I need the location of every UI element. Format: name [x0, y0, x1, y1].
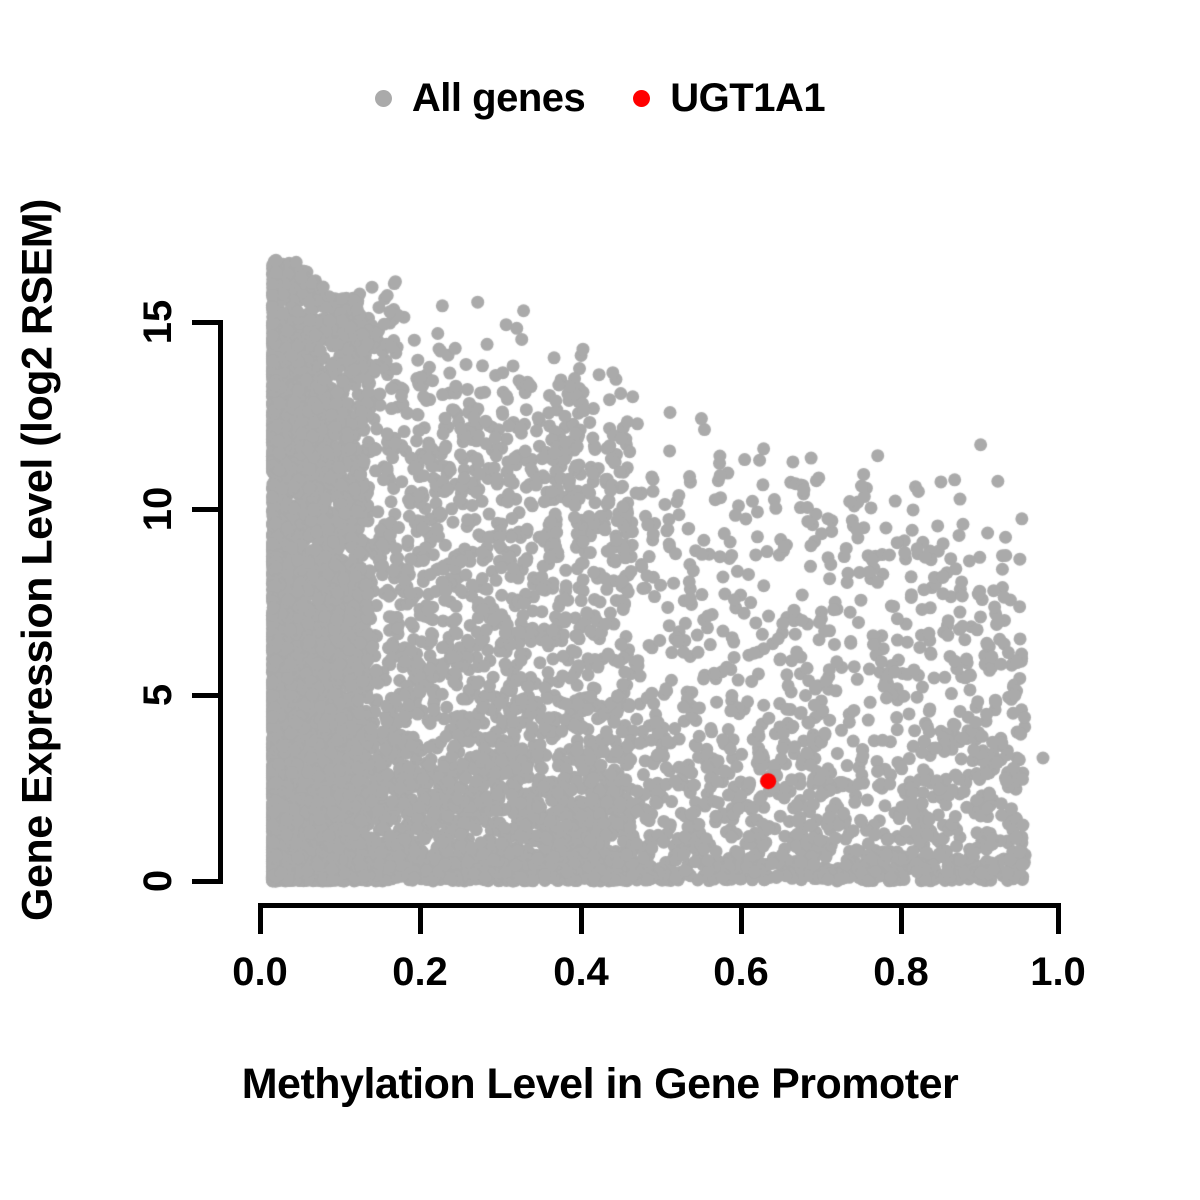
y-axis-title: Gene Expression Level (log2 RSEM) [14, 199, 63, 921]
y-axis-title-wrap: Gene Expression Level (log2 RSEM) [10, 140, 66, 980]
x-tick-mark-0 [258, 903, 263, 934]
y-tick-mark-15 [192, 320, 223, 325]
x-tick-label-4: 0.8 [873, 952, 929, 992]
y-tick-label-5: 5 [138, 684, 178, 706]
y-tick-label-10: 10 [138, 487, 178, 532]
y-tick-label-0: 0 [138, 870, 178, 892]
x-tick-mark-2 [579, 903, 584, 934]
x-tick-label-2: 0.4 [553, 952, 609, 992]
scatter-plot-figure: All genes UGT1A1 0 5 10 15 0.0 0.2 0.4 0… [0, 0, 1200, 1200]
x-tick-label-1: 0.2 [392, 952, 448, 992]
plot-area [0, 0, 1200, 1200]
y-tick-mark-5 [192, 693, 223, 698]
x-tick-label-0: 0.0 [232, 952, 288, 992]
x-axis-line [258, 903, 1061, 908]
x-tick-mark-1 [418, 903, 423, 934]
x-tick-label-3: 0.6 [713, 952, 769, 992]
x-tick-mark-5 [1056, 903, 1061, 934]
x-tick-mark-3 [739, 903, 744, 934]
scatter-points-canvas [0, 0, 1200, 1200]
x-axis-title: Methylation Level in Gene Promoter [0, 1060, 1200, 1109]
y-tick-mark-0 [192, 879, 223, 884]
y-tick-label-15: 15 [138, 300, 178, 345]
y-axis-line [218, 320, 223, 883]
x-tick-mark-4 [899, 903, 904, 934]
y-tick-mark-10 [192, 507, 223, 512]
x-tick-label-5: 1.0 [1030, 952, 1086, 992]
